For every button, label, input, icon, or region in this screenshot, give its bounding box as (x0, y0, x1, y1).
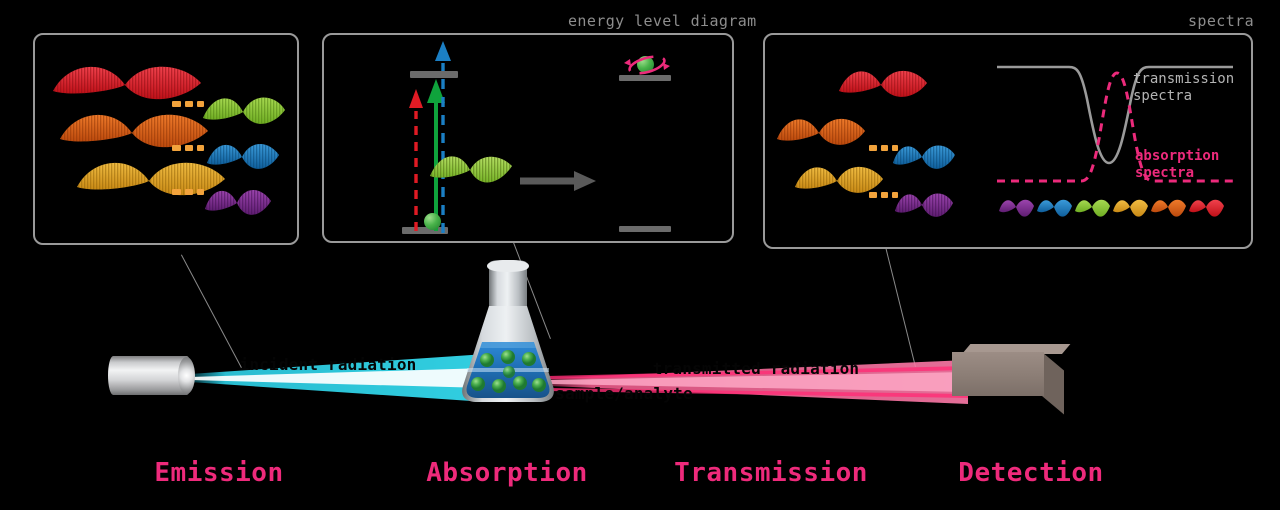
panel-title-energy-level-diagram: energy level diagram (568, 12, 757, 30)
detector-side-face (1042, 352, 1064, 414)
panel-title-spectra: spectra (1188, 12, 1254, 30)
absorption-spectra-label-line2: spectra (1135, 165, 1219, 182)
label-sample-analyte: sample/analyte (555, 384, 693, 403)
stage-label-transmission: Transmission (674, 458, 868, 488)
sample-flask (449, 260, 567, 405)
dash-arrow-2 (172, 145, 204, 151)
light-source-aperture (178, 357, 195, 394)
leader-line-emission (181, 254, 242, 368)
leader-line-detection (884, 243, 916, 367)
transmission-spectra-label-line1: transmission (1133, 71, 1234, 88)
rainbow-wave-strip (997, 193, 1237, 231)
spectra-wave-gold (793, 159, 885, 207)
absorption-spectra-label: absorption spectra (1135, 148, 1219, 182)
absorption-spectra-label-line1: absorption (1135, 148, 1219, 165)
dash-arrow-1 (172, 101, 204, 107)
dash-arrow-3 (172, 189, 204, 195)
ground-state-level-right (619, 226, 671, 232)
spectra-wave-red (837, 63, 929, 111)
transition-arrow (520, 171, 596, 191)
arrow-too-high-energy (434, 41, 452, 233)
arrow-too-low-energy (408, 89, 424, 231)
spectra-wave-orange (775, 111, 867, 159)
wave-packet-purple (203, 183, 273, 227)
wave-packet-blue (205, 137, 281, 181)
panel-emission (33, 33, 299, 245)
transmission-spectra-label: transmission spectra (1133, 71, 1234, 105)
spectra-wave-blue (891, 139, 957, 179)
spectroscopy-diagram: energy level diagram spectra (0, 0, 1280, 510)
wave-packet-green (201, 90, 287, 136)
panel-spectra: transmission spectra absorption spectra (763, 33, 1253, 249)
photon-wave-green (428, 150, 514, 194)
label-transmitted-radiation: transmitted radiation (653, 359, 860, 378)
stage-label-emission: Emission (154, 458, 283, 488)
stage-label-absorption: Absorption (426, 458, 588, 488)
panel-energy-level-diagram (322, 33, 734, 243)
transmission-spectra-label-line2: spectra (1133, 88, 1234, 105)
orbit-ring-icon (624, 52, 670, 78)
label-incident-radiation: incident radiation (240, 355, 417, 374)
stage-label-detection: Detection (958, 458, 1103, 488)
detector (952, 352, 1044, 396)
spectra-wave-purple (893, 187, 955, 227)
electron-ground-state (424, 213, 441, 230)
